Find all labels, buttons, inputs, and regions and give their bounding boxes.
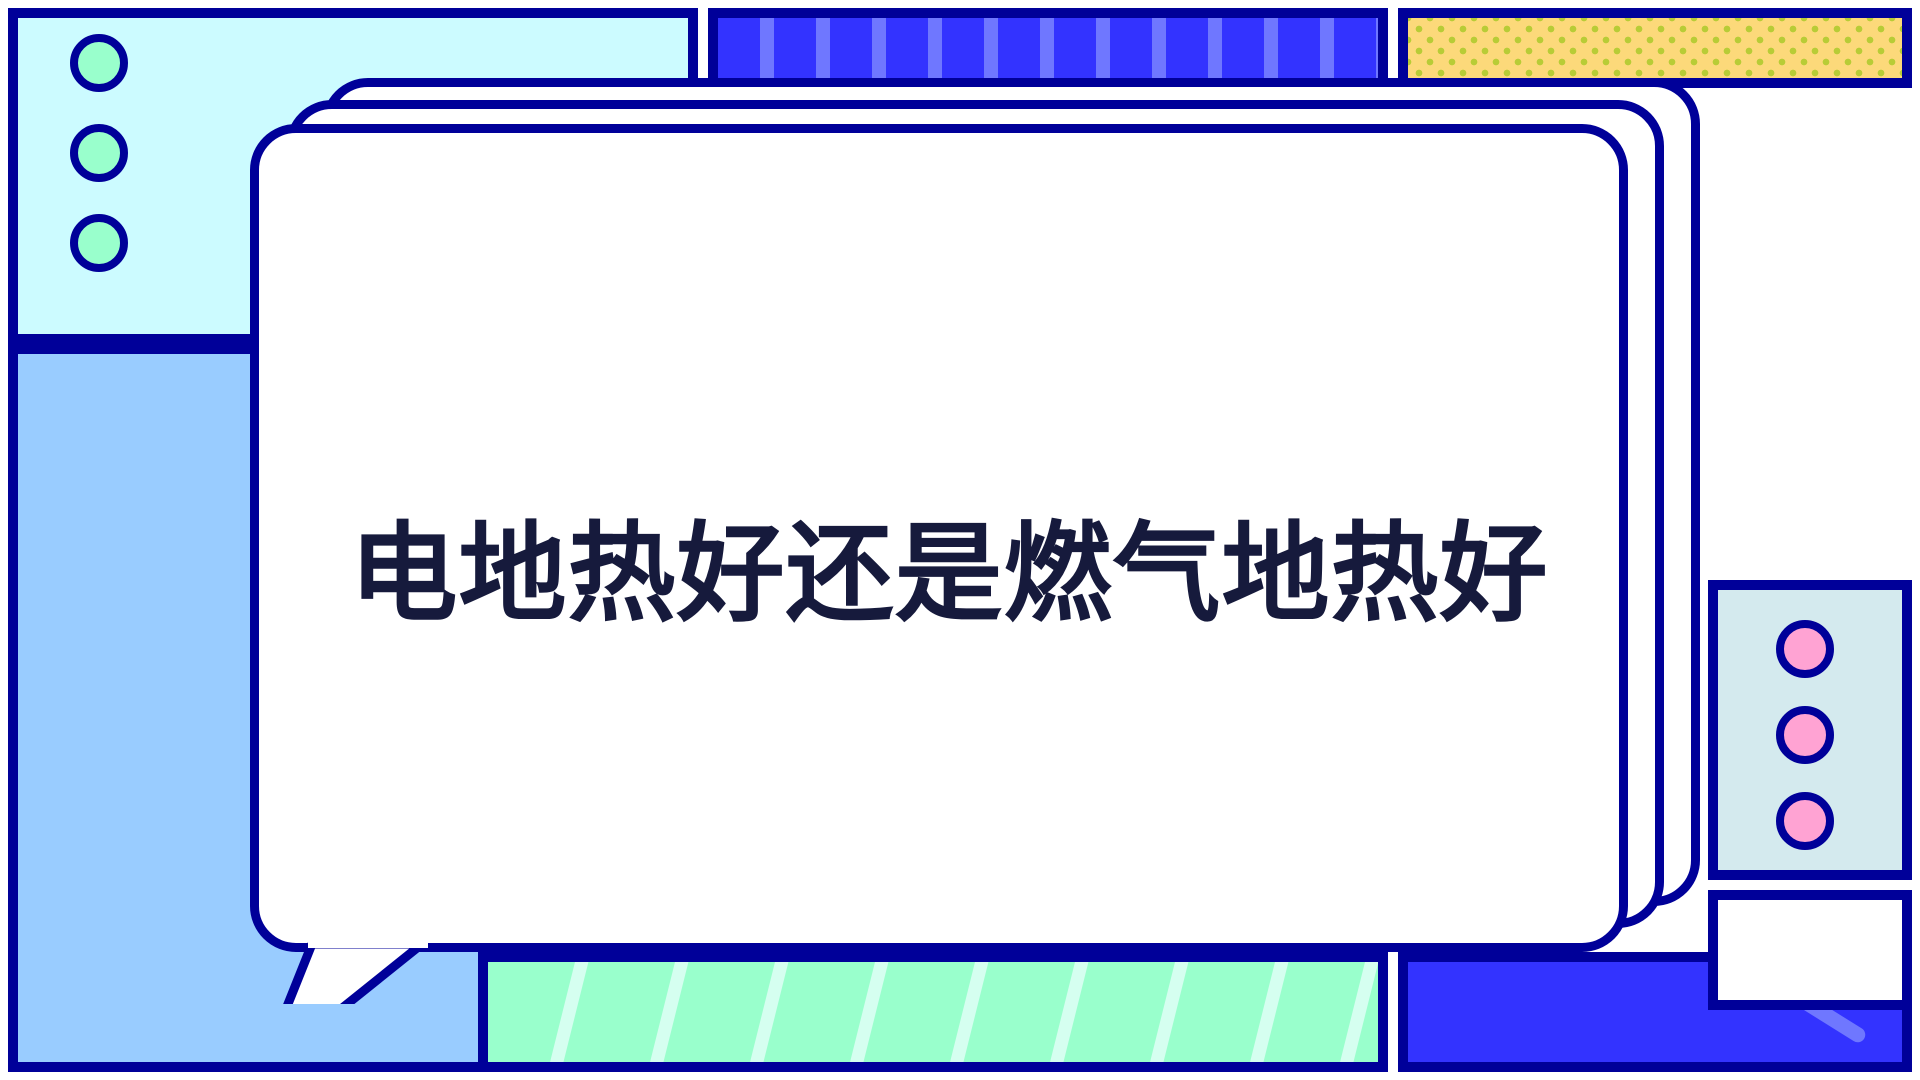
bullet-circle-4: [1776, 620, 1834, 678]
speech-bubble-card: 电地热好还是燃气地热好: [250, 78, 1700, 958]
yellow-dotted-bar: [1398, 8, 1912, 88]
polka-dot-pattern: [1408, 18, 1902, 78]
blue-striped-bar: [708, 8, 1388, 88]
green-striped-bar: [478, 952, 1388, 1072]
bullet-circle-2: [70, 124, 128, 182]
poster-canvas: 电地热好还是燃气地热好: [0, 0, 1920, 1080]
white-right-block: [1708, 890, 1912, 1010]
card-layer-front: 电地热好还是燃气地热好: [250, 124, 1628, 952]
bullet-circle-3: [70, 214, 128, 272]
pale-blue-right: [1708, 580, 1912, 880]
vertical-stripe-group: [718, 18, 1378, 78]
diagonal-slash-group: [488, 962, 1378, 1062]
page-title: 电地热好还是燃气地热好: [299, 513, 1599, 637]
bullet-circle-6: [1776, 792, 1834, 850]
bullet-circle-1: [70, 34, 128, 92]
bullet-circle-5: [1776, 706, 1834, 764]
